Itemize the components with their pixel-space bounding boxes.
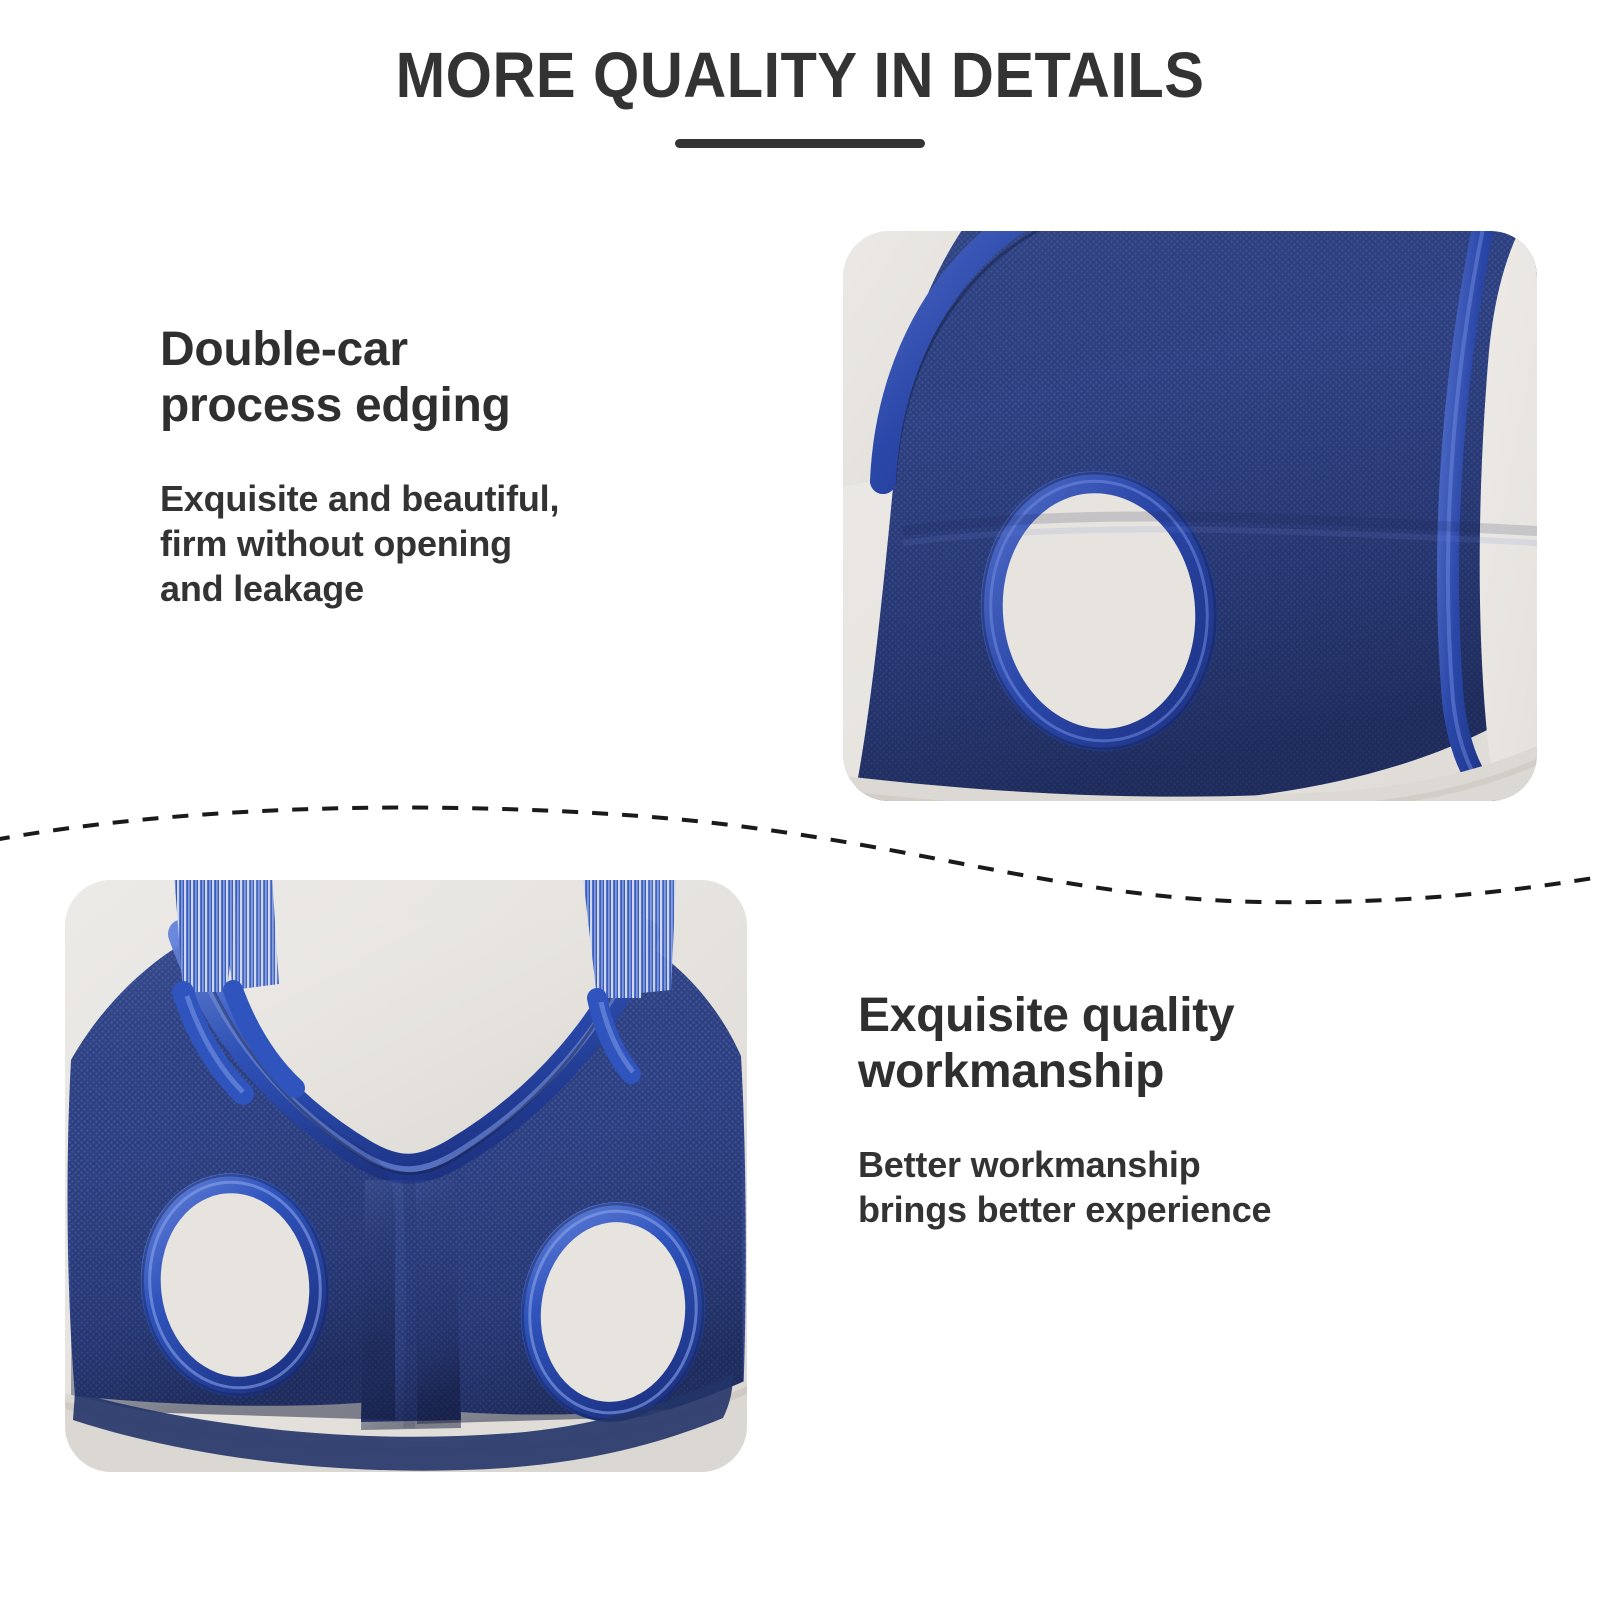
feature-text-double-car: Double-car process edging Exquisite and … [160, 322, 780, 611]
feature-body-workmanship: Better workmanship brings better experie… [858, 1143, 1518, 1232]
feature-heading-workmanship: Exquisite quality workmanship [858, 988, 1518, 1099]
feature-text-workmanship: Exquisite quality workmanship Better wor… [858, 988, 1518, 1233]
page-title: MORE QUALITY IN DETAILS [56, 38, 1544, 112]
feature-heading-double-car: Double-car process edging [160, 322, 780, 433]
title-underline-bar [675, 139, 925, 148]
infographic-root: MORE QUALITY IN DETAILS [0, 0, 1600, 1600]
center-fold [409, 1180, 412, 1428]
full-vest-illustration [65, 880, 747, 1472]
full-vest-photo [65, 880, 747, 1472]
edging-detail-photo [843, 231, 1537, 801]
feature-body-double-car: Exquisite and beautiful, firm without op… [160, 477, 780, 611]
edging-detail-illustration [843, 231, 1537, 801]
